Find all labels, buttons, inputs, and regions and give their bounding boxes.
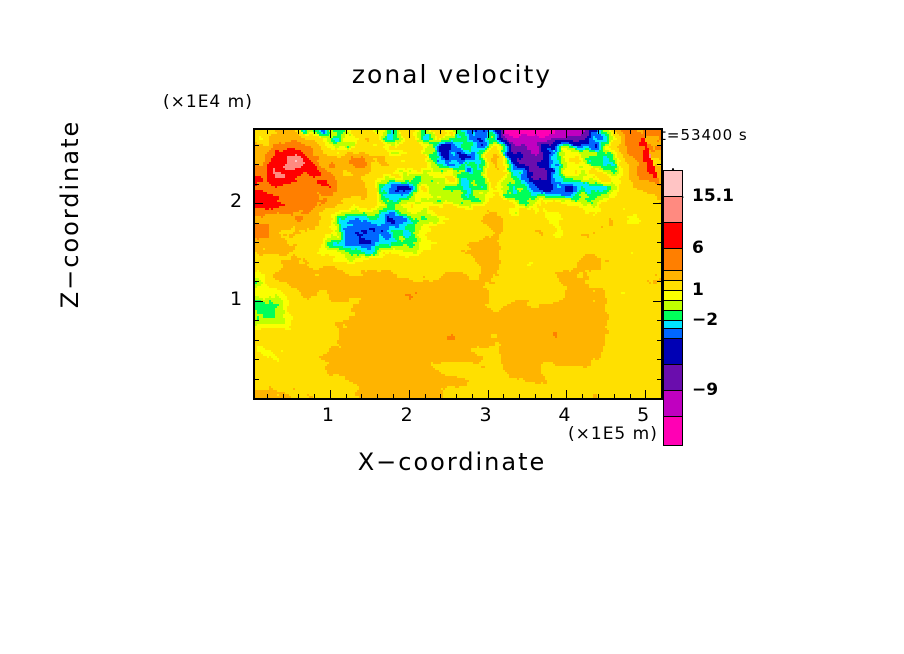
axis-tick <box>409 130 410 138</box>
axis-tick <box>283 130 284 134</box>
x-tick-label: 5 <box>637 404 649 426</box>
axis-tick <box>551 130 552 134</box>
colorbar-segment <box>663 222 683 248</box>
axis-tick <box>657 262 661 263</box>
axis-tick <box>657 281 661 282</box>
axis-tick <box>472 130 473 134</box>
colorbar-segment <box>663 280 683 290</box>
colorbar-segment <box>663 320 683 328</box>
axis-tick <box>361 130 362 134</box>
axis-tick <box>361 394 362 398</box>
axis-tick <box>598 394 599 398</box>
axis-tick <box>566 130 567 138</box>
axis-tick <box>456 130 457 134</box>
colorbar <box>663 170 683 446</box>
axis-tick <box>255 242 259 243</box>
axis-tick <box>456 394 457 398</box>
axis-tick <box>267 130 268 134</box>
axis-tick <box>657 320 661 321</box>
axis-tick <box>255 359 259 360</box>
axis-tick <box>503 394 504 398</box>
axis-tick <box>330 130 331 138</box>
axis-tick <box>657 145 661 146</box>
y-axis-unit-label: (×1E4 m) <box>163 92 253 112</box>
axis-tick <box>440 394 441 398</box>
axis-tick <box>255 301 263 302</box>
colorbar-segment <box>663 338 683 364</box>
colorbar-segment <box>663 290 683 300</box>
axis-tick <box>346 130 347 134</box>
axis-tick <box>330 390 331 398</box>
y-tick-label: 2 <box>230 190 242 212</box>
axis-tick <box>657 379 661 380</box>
axis-tick <box>614 394 615 398</box>
axis-tick <box>566 390 567 398</box>
colorbar-segment <box>663 270 683 280</box>
axis-tick <box>393 394 394 398</box>
axis-tick <box>503 130 504 134</box>
axis-tick <box>255 262 259 263</box>
axis-tick <box>653 301 661 302</box>
colorbar-label: 6 <box>692 238 704 258</box>
axis-tick <box>298 130 299 134</box>
axis-tick <box>425 130 426 134</box>
axis-tick <box>535 394 536 398</box>
axis-tick <box>255 164 259 165</box>
colorbar-segment <box>663 248 683 270</box>
axis-tick <box>551 394 552 398</box>
time-annotation: t=53400 s <box>660 126 748 144</box>
y-tick-label: 1 <box>230 288 242 310</box>
axis-tick <box>346 394 347 398</box>
axis-tick <box>255 320 259 321</box>
axis-tick <box>653 203 661 204</box>
axis-tick <box>255 184 259 185</box>
colorbar-segment <box>663 364 683 390</box>
colorbar-segment <box>663 196 683 222</box>
axis-tick <box>488 390 489 398</box>
axis-tick <box>267 394 268 398</box>
axis-tick <box>377 130 378 134</box>
x-axis-unit-label: (×1E5 m) <box>568 424 658 444</box>
axis-tick <box>255 379 259 380</box>
y-axis-title: Z−coordinate <box>56 84 84 344</box>
axis-tick <box>440 130 441 134</box>
axis-tick <box>298 394 299 398</box>
colorbar-segment <box>663 310 683 320</box>
colorbar-label: −9 <box>692 380 718 400</box>
colorbar-segment <box>663 416 683 446</box>
axis-tick <box>314 394 315 398</box>
x-tick-label: 3 <box>480 404 492 426</box>
axis-tick <box>283 394 284 398</box>
contour-plot-panel <box>253 128 663 400</box>
axis-tick <box>657 223 661 224</box>
axis-tick <box>488 130 489 138</box>
axis-tick <box>255 203 263 204</box>
axis-tick <box>519 394 520 398</box>
axis-tick <box>393 130 394 134</box>
colorbar-label: 15.1 <box>692 186 734 206</box>
axis-tick <box>582 394 583 398</box>
axis-tick <box>472 394 473 398</box>
page-title: zonal velocity <box>0 60 904 89</box>
axis-tick <box>657 242 661 243</box>
axis-tick <box>630 394 631 398</box>
axis-tick <box>598 130 599 134</box>
colorbar-segment <box>663 300 683 310</box>
axis-tick <box>255 281 259 282</box>
x-tick-label: 4 <box>558 404 570 426</box>
axis-tick <box>645 390 646 398</box>
colorbar-segment <box>663 390 683 416</box>
colorbar-segment <box>663 170 683 196</box>
x-axis-title: X−coordinate <box>0 448 904 476</box>
axis-tick <box>255 340 259 341</box>
axis-tick <box>582 130 583 134</box>
axis-tick <box>614 130 615 134</box>
colorbar-label: 1 <box>692 280 704 300</box>
axis-tick <box>314 130 315 134</box>
x-tick-label: 1 <box>322 404 334 426</box>
axis-tick <box>519 130 520 134</box>
axis-tick <box>535 130 536 134</box>
axis-tick <box>630 130 631 134</box>
axis-tick <box>645 130 646 138</box>
x-tick-label: 2 <box>401 404 413 426</box>
colorbar-segment <box>663 328 683 338</box>
axis-tick <box>657 359 661 360</box>
axis-tick <box>425 394 426 398</box>
axis-tick <box>255 145 259 146</box>
axis-tick <box>409 390 410 398</box>
figure-canvas: zonal velocity (×1E4 m) t=53400 s Z−coor… <box>0 0 904 654</box>
axis-tick <box>377 394 378 398</box>
colorbar-label: −2 <box>692 310 718 330</box>
axis-tick <box>657 340 661 341</box>
axis-tick <box>255 223 259 224</box>
velocity-field-canvas <box>255 130 661 398</box>
axis-tick <box>657 164 661 165</box>
